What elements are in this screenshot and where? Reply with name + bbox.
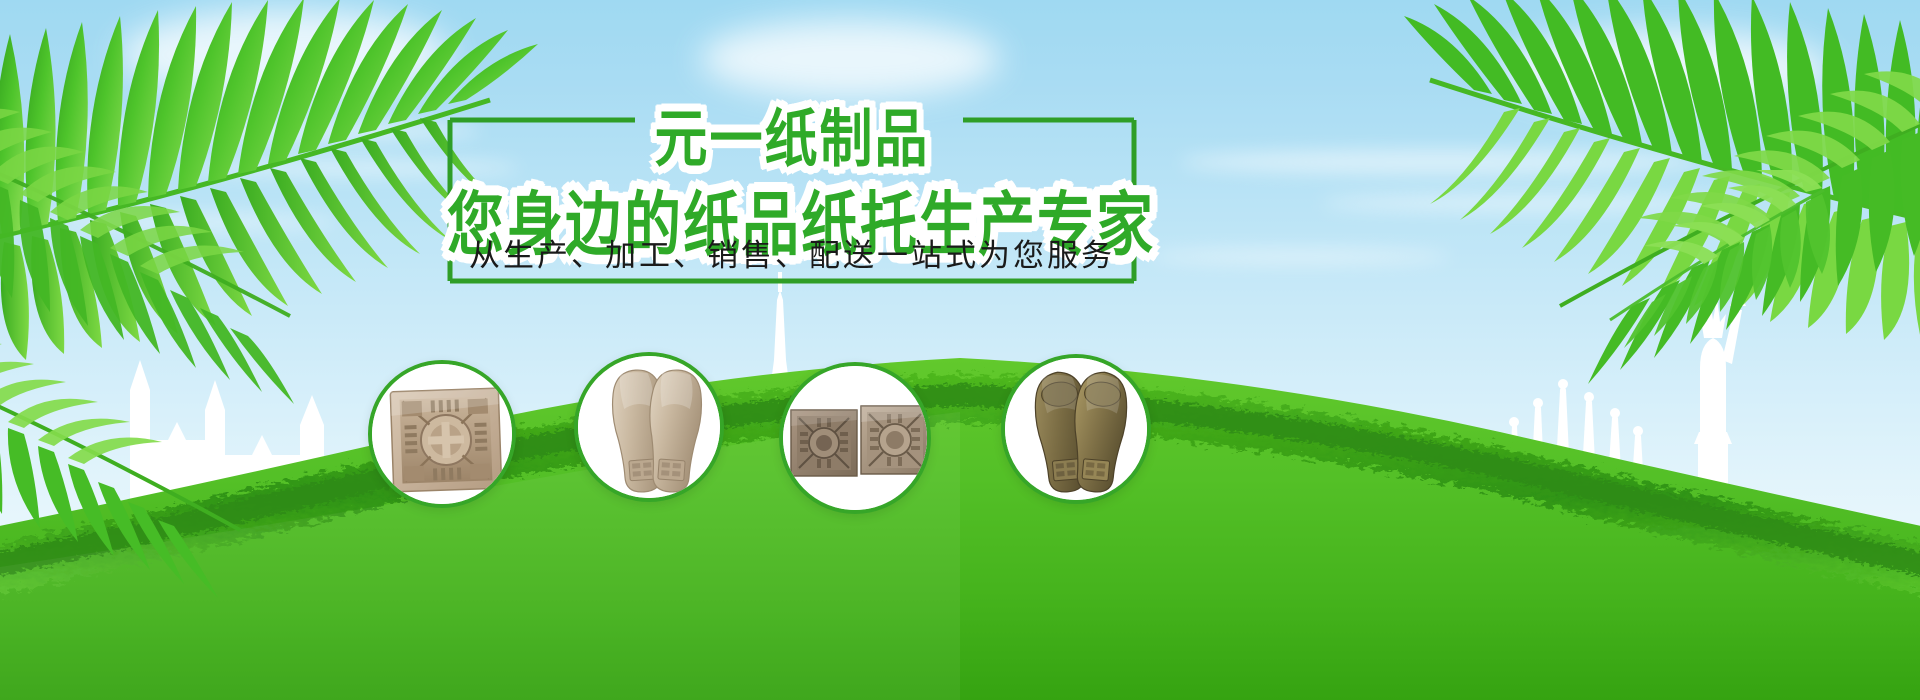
product-circle-paired-pulp-tray[interactable]: [779, 362, 931, 514]
pulp-shoe-inserts-image: [578, 356, 724, 502]
square-pulp-tray-image: [372, 364, 516, 508]
product-circle-square-pulp-tray[interactable]: [368, 360, 516, 508]
product-circle-dark-shoe-forms[interactable]: [1001, 354, 1151, 504]
product-circle-shoe-inserts[interactable]: [574, 352, 724, 502]
banner-subtitle: 从生产、加工、销售、配送一站式为您服务: [447, 236, 1137, 276]
paired-pulp-tray-image: [783, 366, 931, 514]
headline-line-1: 元一纸制品: [447, 104, 1137, 177]
palm-frond-right-inner-icon: [1600, 170, 1830, 360]
dark-pulp-shoe-forms-image: [1005, 358, 1151, 504]
promotional-banner: 元一纸制品 您身边的纸品纸托生产专家 从生产、加工、销售、配送一站式为您服务: [0, 0, 1920, 700]
palm-frond-bottom-left-icon: [0, 330, 260, 620]
